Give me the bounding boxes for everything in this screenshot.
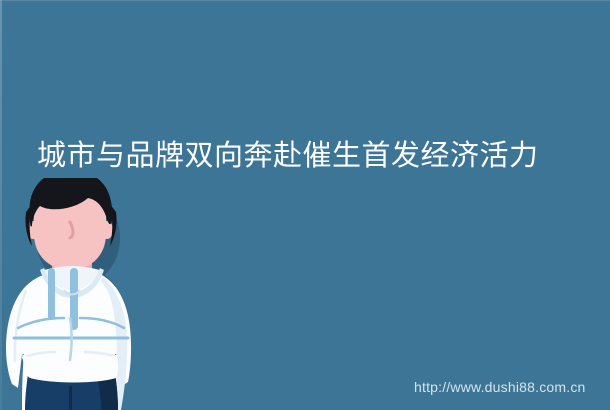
source-watermark: http://www.dushi88.com.cn [414, 378, 586, 396]
banner-top-edge [0, 0, 610, 1]
ear-right [101, 221, 113, 239]
page-title: 城市与品牌双向奔赴催生首发经济活力 [37, 138, 582, 174]
person-illustration [0, 178, 150, 410]
drawstring-left [48, 268, 55, 320]
promo-banner: 城市与品牌双向奔赴催生首发经济活力 http://www.dushi88.com… [0, 0, 610, 410]
pants-center-seam [69, 386, 72, 410]
